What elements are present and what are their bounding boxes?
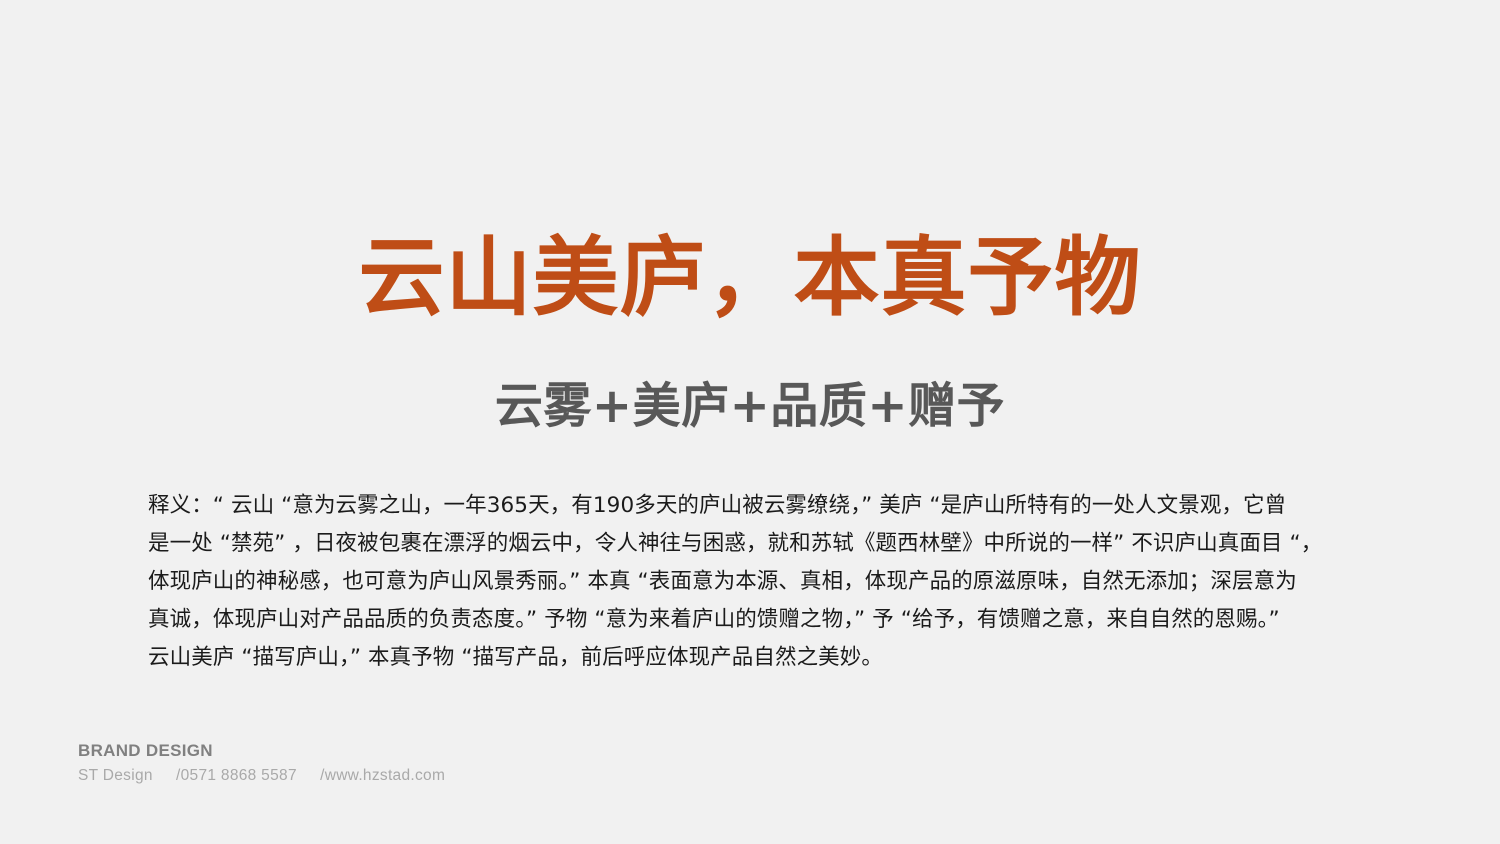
page-title: 云山美庐，本真予物 [0,232,1500,325]
footer-contact-row: ST Design /0571 8868 5587 /www.hzstad.co… [78,764,445,788]
paragraph-line: 释义：“ 云山 “意为云雾之山，一年365天，有190多天的庐山被云雾缭绕，” … [148,487,1360,525]
slide-canvas: 云山美庐，本真予物 云雾+美庐+品质+赠予 释义：“ 云山 “意为云雾之山，一年… [0,0,1500,844]
footer: BRAND DESIGN ST Design /0571 8868 5587 /… [78,740,445,788]
paragraph-line: 云山美庐 “描写庐山，” 本真予物 “描写产品，前后呼应体现产品自然之美妙。 [148,639,1360,677]
definition-paragraph: 释义：“ 云山 “意为云雾之山，一年365天，有190多天的庐山被云雾缭绕，” … [148,487,1360,677]
paragraph-line: 真诚，体现庐山对产品品质的负责态度。” 予物 “意为来着庐山的馈赠之物，” 予 … [148,601,1360,639]
paragraph-line: 体现庐山的神秘感，也可意为庐山风景秀丽。” 本真 “表面意为本源、真相，体现产品… [148,563,1360,601]
footer-brand-label: BRAND DESIGN [78,740,445,762]
page-subtitle: 云雾+美庐+品质+赠予 [0,380,1500,433]
footer-website: /www.hzstad.com [320,764,445,788]
paragraph-line: 是一处 “禁苑” ，日夜被包裹在漂浮的烟云中，令人神往与困惑，就和苏轼《题西林壁… [148,525,1360,563]
footer-studio-name: ST Design [78,764,153,788]
footer-phone: /0571 8868 5587 [176,764,297,788]
